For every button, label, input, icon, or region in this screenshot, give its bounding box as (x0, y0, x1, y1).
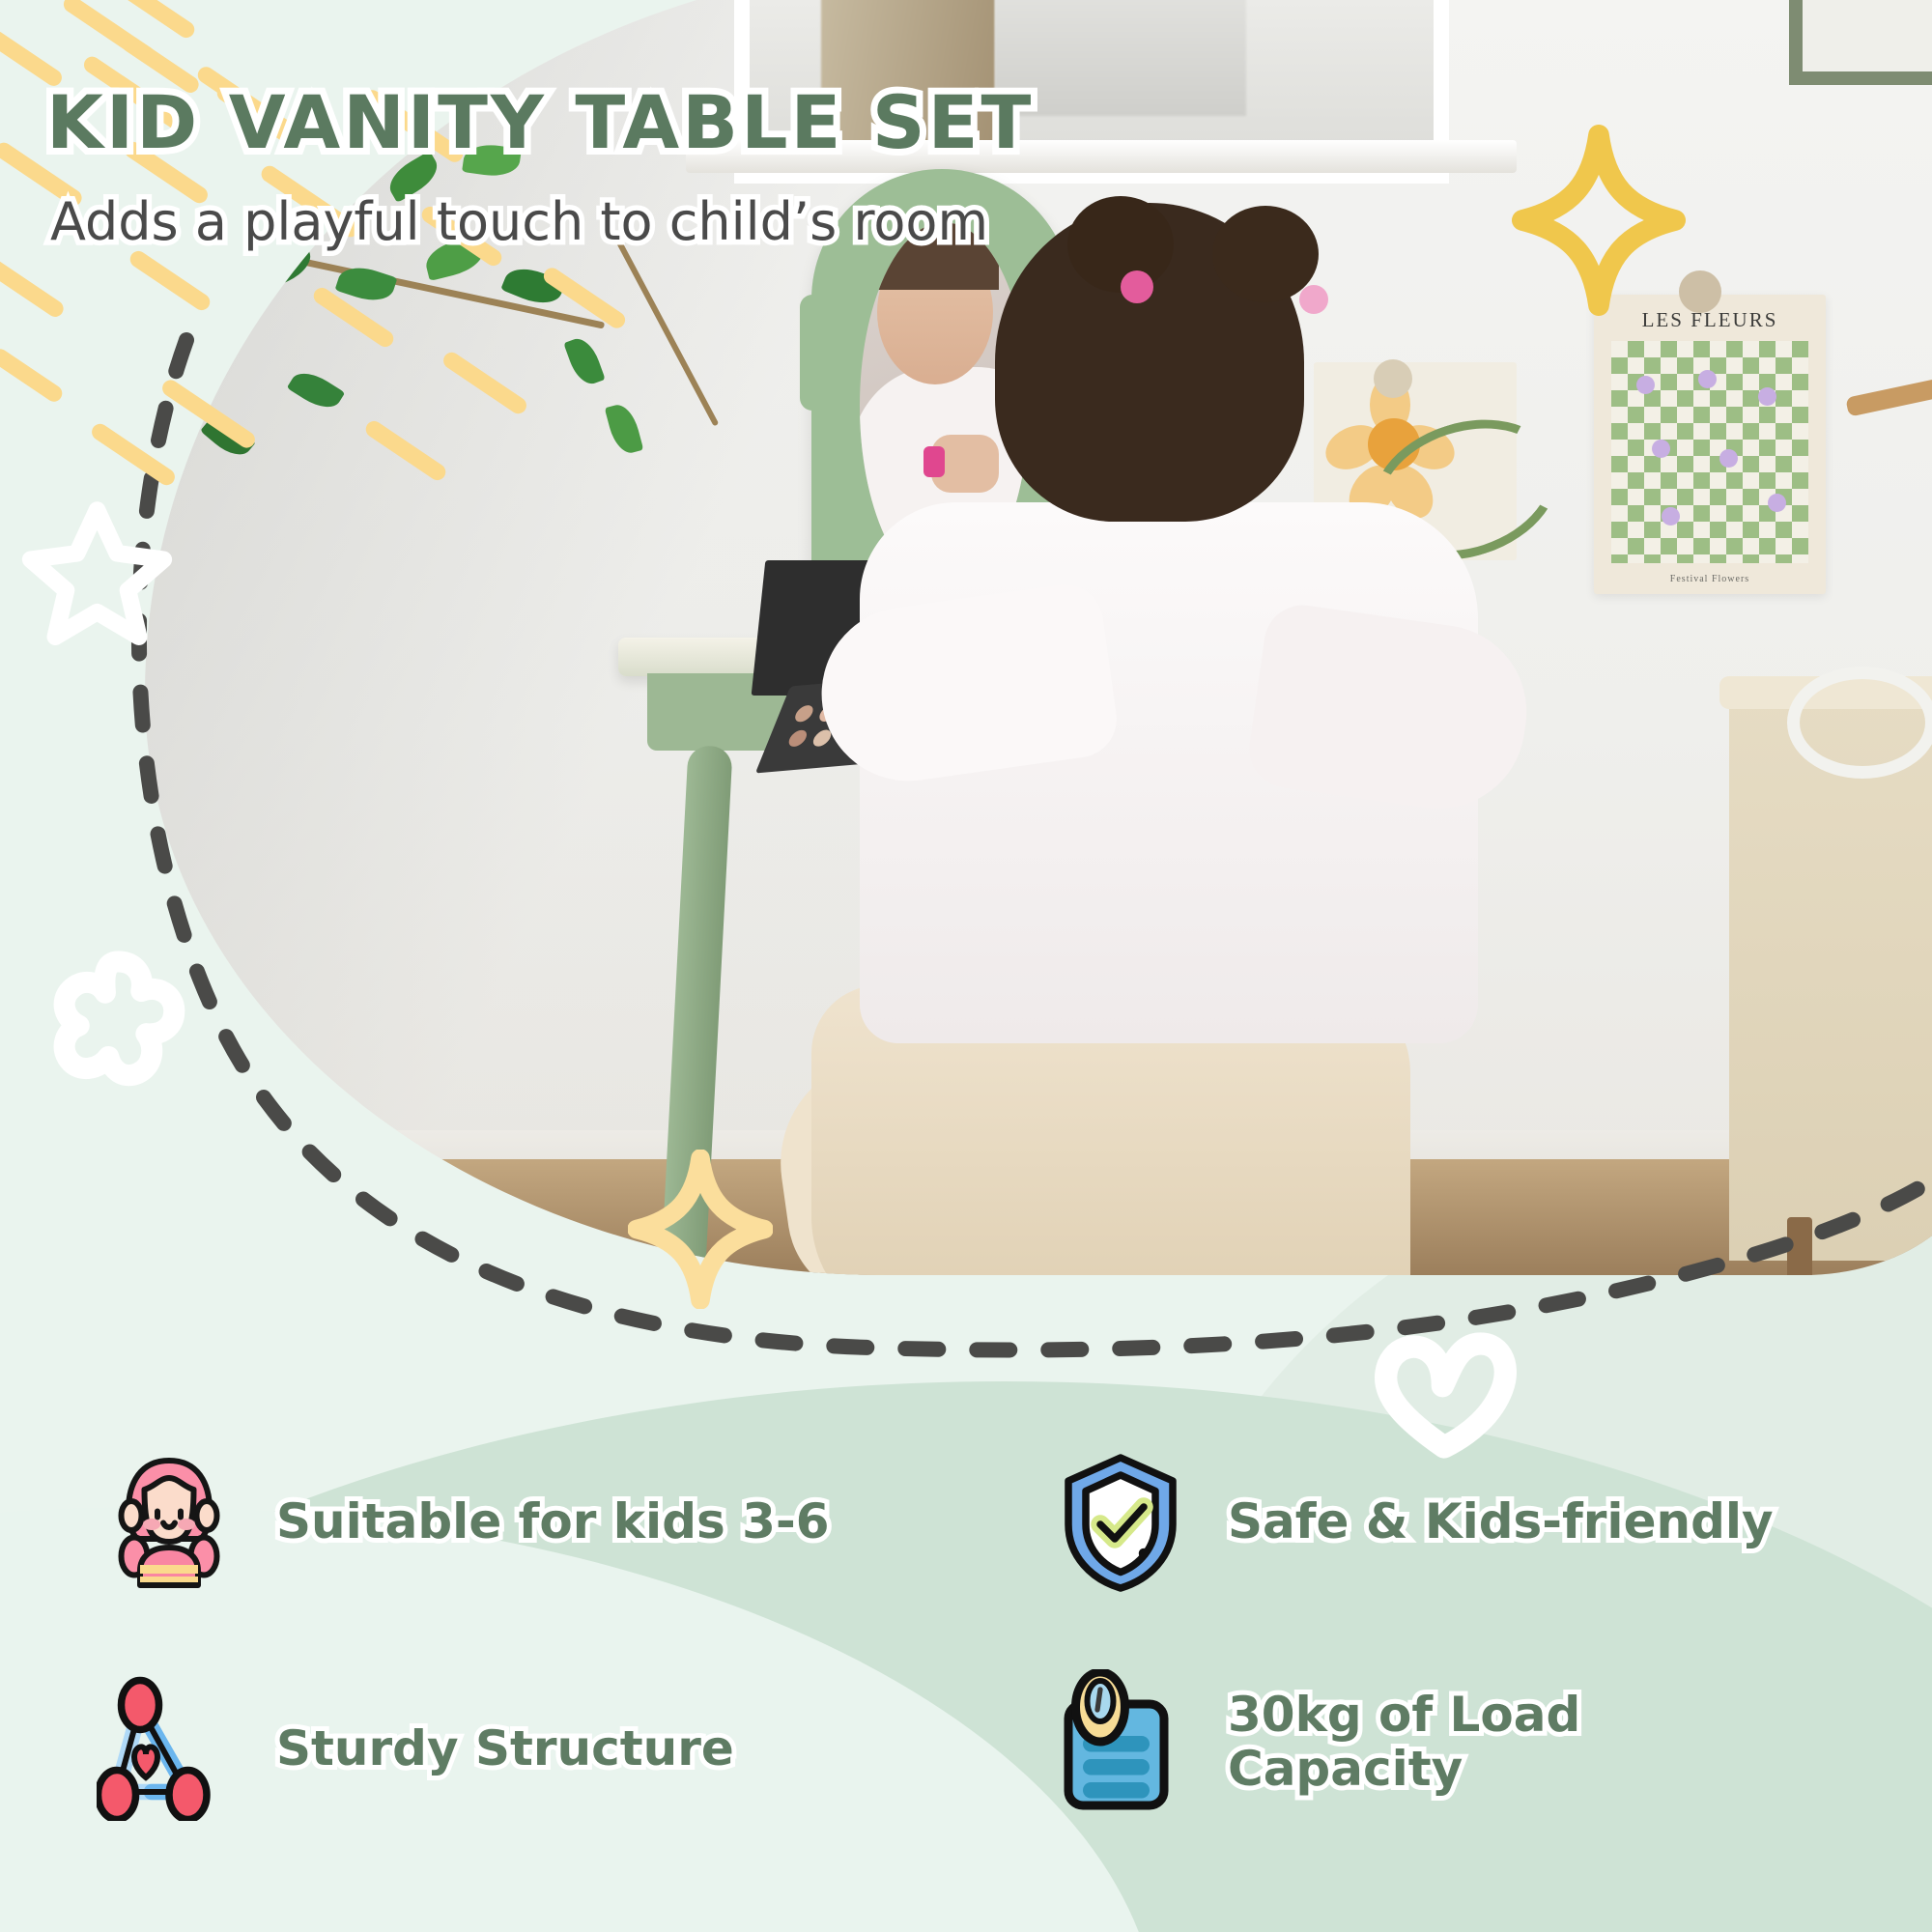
feature-item-load-capacity: 30kg of Load Capacity (1048, 1669, 1580, 1814)
feature-list: Suitable for kids 3-6 Safe & Kids-friend… (0, 1430, 1932, 1932)
triangle-heart-icon (97, 1676, 241, 1821)
feature-label: Safe & Kids-friendly (1228, 1494, 1774, 1548)
feature-label-line2: Capacity (1228, 1742, 1580, 1796)
page-title: KID VANITY TABLE SET (46, 79, 1034, 165)
weight-scale-icon (1048, 1669, 1193, 1814)
sparkle-icon (1512, 124, 1686, 317)
shield-check-icon (1048, 1449, 1193, 1594)
girl-icon (97, 1449, 241, 1594)
feature-label: Suitable for kids 3-6 (276, 1494, 830, 1548)
feature-label-line1: 30kg of Load (1228, 1688, 1580, 1742)
page-subtitle: Adds a playful touch to child’s room (50, 191, 988, 252)
hair-tie (1299, 285, 1328, 314)
poster-pin (1374, 359, 1412, 398)
poster-caption: Festival Flowers (1594, 574, 1826, 584)
child-hair-bun (1067, 196, 1174, 293)
star-outline-icon (17, 495, 177, 649)
child-hair-bun (1212, 206, 1319, 302)
wall-frame (1789, 0, 1932, 85)
hair-tie (1121, 270, 1153, 303)
sparkle-icon (628, 1150, 773, 1309)
feature-item-safe-kids-friendly: Safe & Kids-friendly (1048, 1449, 1774, 1594)
flower-outline-icon (29, 942, 208, 1106)
infographic-canvas: LES FLEURS Festival Flowers (0, 0, 1932, 1932)
feature-item-suitable-age: Suitable for kids 3-6 (97, 1449, 830, 1594)
feature-item-sturdy-structure: Sturdy Structure (97, 1676, 734, 1821)
power-cable (1787, 667, 1932, 779)
feature-label: 30kg of Load Capacity (1228, 1688, 1580, 1796)
poster-les-fleurs: LES FLEURS Festival Flowers (1594, 295, 1826, 594)
feature-label: Sturdy Structure (276, 1721, 734, 1776)
